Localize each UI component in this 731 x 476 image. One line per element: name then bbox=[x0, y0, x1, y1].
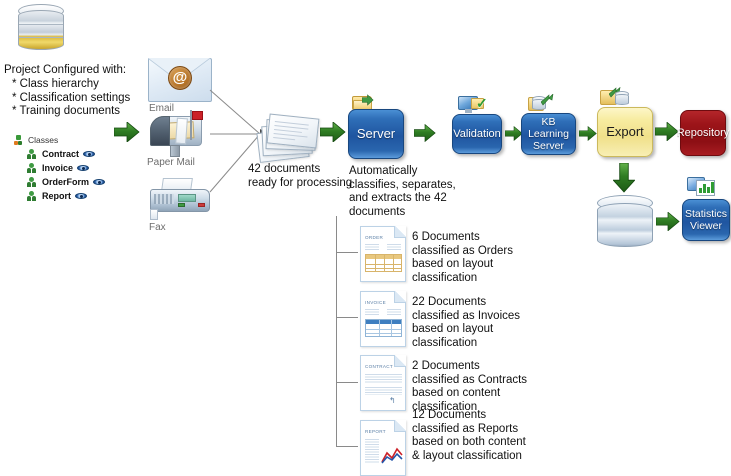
database-cylinder-icon bbox=[597, 195, 653, 251]
class-icon bbox=[27, 177, 38, 187]
kb-learning-server-box[interactable]: KB Learning Server bbox=[521, 113, 576, 155]
export-label: Export bbox=[606, 125, 644, 139]
tree-item-label: OrderForm bbox=[42, 175, 89, 189]
kb-learning-server-label: KB Learning Server bbox=[525, 116, 572, 152]
doc-title: ORDER bbox=[365, 235, 383, 240]
database-green-arrow-icon bbox=[528, 94, 554, 114]
document-stack-icon bbox=[258, 116, 320, 158]
class-icon bbox=[27, 149, 38, 159]
eye-icon[interactable] bbox=[83, 150, 95, 158]
project-bullets: * Class hierarchy * Classification setti… bbox=[12, 78, 162, 119]
green-arrow-icon bbox=[414, 124, 436, 142]
email-seal-icon: @ bbox=[168, 66, 192, 90]
repository-label: Repository bbox=[677, 126, 730, 140]
classified-text-orders: 6 Documents classified as Orders based o… bbox=[412, 231, 530, 285]
server-box[interactable]: Server bbox=[348, 109, 404, 159]
doc-title: REPORT bbox=[365, 429, 386, 434]
green-arrow-icon bbox=[656, 212, 680, 231]
order-document-icon: ORDER bbox=[360, 226, 406, 282]
green-arrow-icon bbox=[655, 122, 679, 141]
tree-item-label: Report bbox=[42, 189, 71, 203]
invoice-document-icon: INVOICE bbox=[360, 291, 406, 347]
report-document-icon: REPORT bbox=[360, 420, 406, 476]
project-heading: Project Configured with: bbox=[4, 64, 149, 78]
classified-connector-branch bbox=[336, 446, 358, 447]
fax-machine-icon bbox=[148, 178, 214, 222]
input-label-fax: Fax bbox=[149, 222, 166, 233]
doc-title: INVOICE bbox=[365, 300, 386, 305]
class-icon bbox=[27, 163, 38, 173]
tree-item-contract[interactable]: Contract bbox=[27, 147, 134, 161]
green-arrow-icon bbox=[114, 122, 140, 142]
eye-icon[interactable] bbox=[75, 192, 87, 200]
eye-icon[interactable] bbox=[77, 164, 89, 172]
tree-item-invoice[interactable]: Invoice bbox=[27, 161, 134, 175]
input-label-paper-mail: Paper Mail bbox=[147, 157, 195, 168]
monitor-folder-check-icon: ✓ bbox=[458, 96, 482, 114]
mailbox-icon bbox=[146, 108, 210, 158]
tree-item-label: Contract bbox=[42, 147, 79, 161]
monitor-chart-icon bbox=[687, 177, 715, 199]
eye-icon[interactable] bbox=[93, 178, 105, 186]
green-arrow-icon bbox=[613, 163, 635, 193]
statistics-viewer-box[interactable]: Statistics Viewer bbox=[682, 199, 730, 241]
classes-icon bbox=[14, 135, 25, 145]
diagram-canvas: Project Configured with: * Class hierarc… bbox=[0, 0, 731, 465]
classified-connector-branch bbox=[336, 382, 358, 383]
classified-connector-branch bbox=[336, 317, 358, 318]
classified-text-invoices: 22 Documents classified as Invoices base… bbox=[412, 296, 534, 350]
classified-text-reports: 12 Documents classified as Reports based… bbox=[412, 409, 540, 463]
tree-item-orderform[interactable]: OrderForm bbox=[27, 175, 134, 189]
classified-connector-trunk bbox=[336, 216, 337, 446]
validation-label: Validation bbox=[453, 127, 501, 141]
repository-box[interactable]: Repository bbox=[680, 110, 726, 156]
classified-connector-branch bbox=[336, 252, 358, 253]
tree-item-label: Invoice bbox=[42, 161, 73, 175]
doc-title: CONTRACT bbox=[365, 364, 393, 369]
green-arrow-icon bbox=[320, 122, 346, 142]
tree-root-label: Classes bbox=[28, 133, 58, 147]
contract-document-icon: CONTRACT ↰ bbox=[360, 355, 406, 411]
tree-item-report[interactable]: Report bbox=[27, 189, 134, 203]
validation-box[interactable]: Validation bbox=[452, 114, 502, 154]
intake-caption: 42 documents ready for processing bbox=[248, 163, 358, 190]
class-tree: Classes Contract Invoice OrderForm Repor… bbox=[14, 133, 134, 203]
server-label: Server bbox=[357, 127, 395, 141]
statistics-viewer-label: Statistics Viewer bbox=[685, 208, 727, 232]
export-box[interactable]: Export bbox=[597, 107, 653, 157]
email-envelope-icon: @ bbox=[148, 58, 212, 102]
class-icon bbox=[27, 191, 38, 201]
server-caption: Automatically classifies, separates, and… bbox=[349, 165, 457, 219]
classified-text-contracts: 2 Documents classified as Contracts base… bbox=[412, 360, 536, 414]
green-arrow-icon bbox=[579, 126, 597, 141]
database-cylinder-icon bbox=[18, 4, 64, 54]
